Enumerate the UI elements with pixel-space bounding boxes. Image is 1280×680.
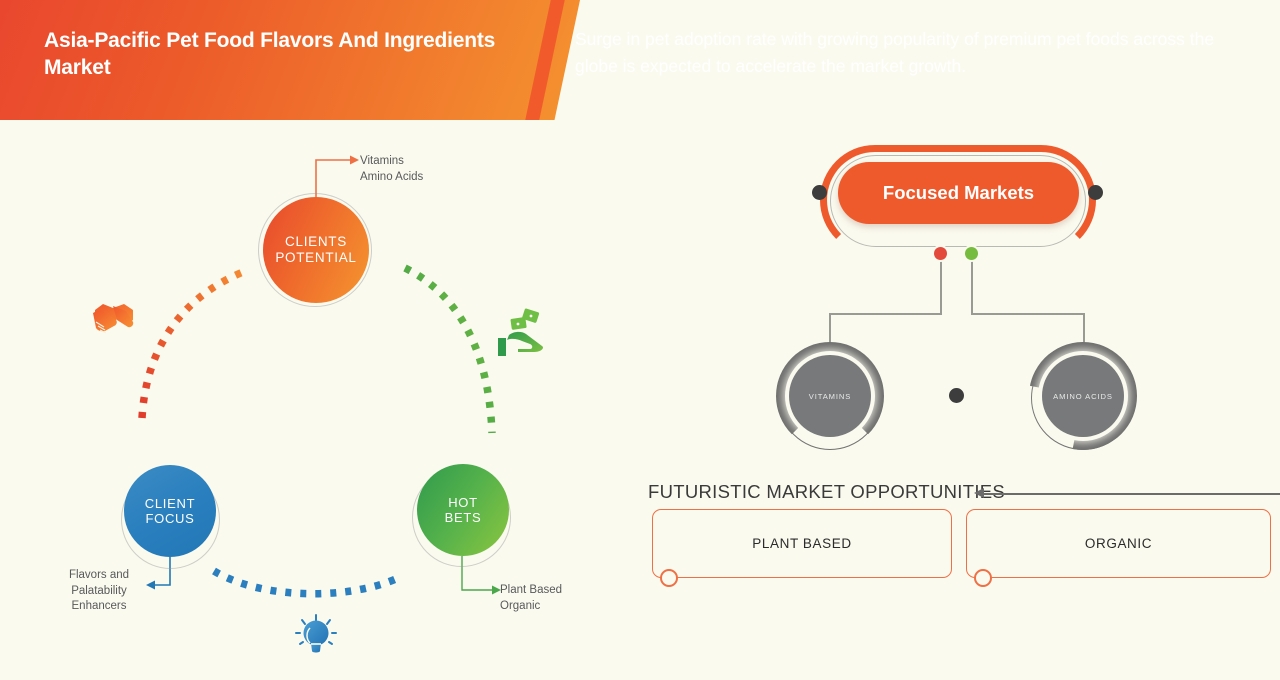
futuristic-opportunities-arrow-icon <box>974 488 984 498</box>
header-subtitle: Surge in pet adoption rate with growing … <box>575 26 1235 79</box>
gauge-vitamins-core: VITAMINS <box>789 355 871 437</box>
node-hot-bets[interactable]: HOT BETS <box>417 464 509 556</box>
focused-markets-pill[interactable]: Focused Markets <box>838 162 1079 224</box>
callout-hot-bets: Plant Based Organic <box>500 583 620 614</box>
connector-right-horizontal <box>971 313 1085 315</box>
opportunity-box-plant-based[interactable]: PLANT BASED <box>652 509 952 578</box>
opportunity-label-plant-based: PLANT BASED <box>752 536 851 551</box>
callout-hotbets-line1: Plant Based <box>500 583 620 599</box>
callout-clients-line1: Vitamins <box>360 154 490 170</box>
focused-markets-left-dot <box>812 185 827 200</box>
gauge-amino-acids[interactable]: AMINO ACIDS <box>1029 342 1137 450</box>
callout-clients-line2: Amino Acids <box>360 170 490 186</box>
red-branch-dot <box>934 247 947 260</box>
clients-potential-label-1: CLIENTS <box>285 234 347 249</box>
opportunity-knob-plant-based <box>660 569 678 587</box>
lightbulb-icon <box>296 615 336 653</box>
client-focus-label-1: CLIENT <box>145 496 195 511</box>
focused-markets-label: Focused Markets <box>883 182 1034 204</box>
opportunity-knob-organic <box>974 569 992 587</box>
page-title: Asia-Pacific Pet Food Flavors And Ingred… <box>44 27 514 82</box>
node-client-focus[interactable]: CLIENT FOCUS <box>124 465 216 557</box>
callout-client-focus: Flavors and Palatability Enhancers <box>55 568 143 615</box>
hot-bets-label-2: BETS <box>445 510 482 525</box>
clients-potential-label-2: POTENTIAL <box>275 250 356 265</box>
futuristic-opportunities-heading: FUTURISTIC MARKET OPPORTUNITIES <box>648 481 1005 503</box>
opportunity-box-organic[interactable]: ORGANIC <box>966 509 1271 578</box>
gauge-amino-acids-label: AMINO ACIDS <box>1053 392 1113 401</box>
infographic-root: Asia-Pacific Pet Food Flavors And Ingred… <box>0 0 1280 680</box>
green-branch-dot <box>965 247 978 260</box>
center-dark-dot <box>949 388 964 403</box>
money-in-hand-icon <box>498 308 543 356</box>
header-banner: Asia-Pacific Pet Food Flavors And Ingred… <box>0 0 1280 120</box>
callout-focus-line1: Flavors and <box>55 568 143 584</box>
callout-hotbets-line2: Organic <box>500 599 620 615</box>
opportunity-label-organic: ORGANIC <box>1085 536 1152 551</box>
node-clients-potential[interactable]: CLIENTS POTENTIAL <box>263 197 369 303</box>
gauge-amino-acids-core: AMINO ACIDS <box>1042 355 1124 437</box>
connector-green-vertical <box>971 258 973 314</box>
connector-red-vertical <box>940 258 942 314</box>
gauge-vitamins[interactable]: VITAMINS <box>776 342 884 450</box>
focused-markets-right-dot <box>1088 185 1103 200</box>
blue-dotted-arc <box>214 571 398 594</box>
hot-bets-label-1: HOT <box>448 495 478 510</box>
orange-dotted-arc <box>142 272 243 418</box>
callout-focus-line3: Enhancers <box>55 599 143 615</box>
gauge-vitamins-label: VITAMINS <box>809 392 852 401</box>
callout-focus-line2: Palatability <box>55 584 143 600</box>
green-dotted-arc <box>405 268 492 433</box>
handshake-icon <box>93 304 133 333</box>
callout-connector-clients <box>316 156 359 199</box>
connector-left-horizontal <box>829 313 942 315</box>
futuristic-opportunities-arrow-line <box>984 493 1280 495</box>
callout-clients-potential: Vitamins Amino Acids <box>360 154 490 185</box>
client-focus-label-2: FOCUS <box>146 511 195 526</box>
